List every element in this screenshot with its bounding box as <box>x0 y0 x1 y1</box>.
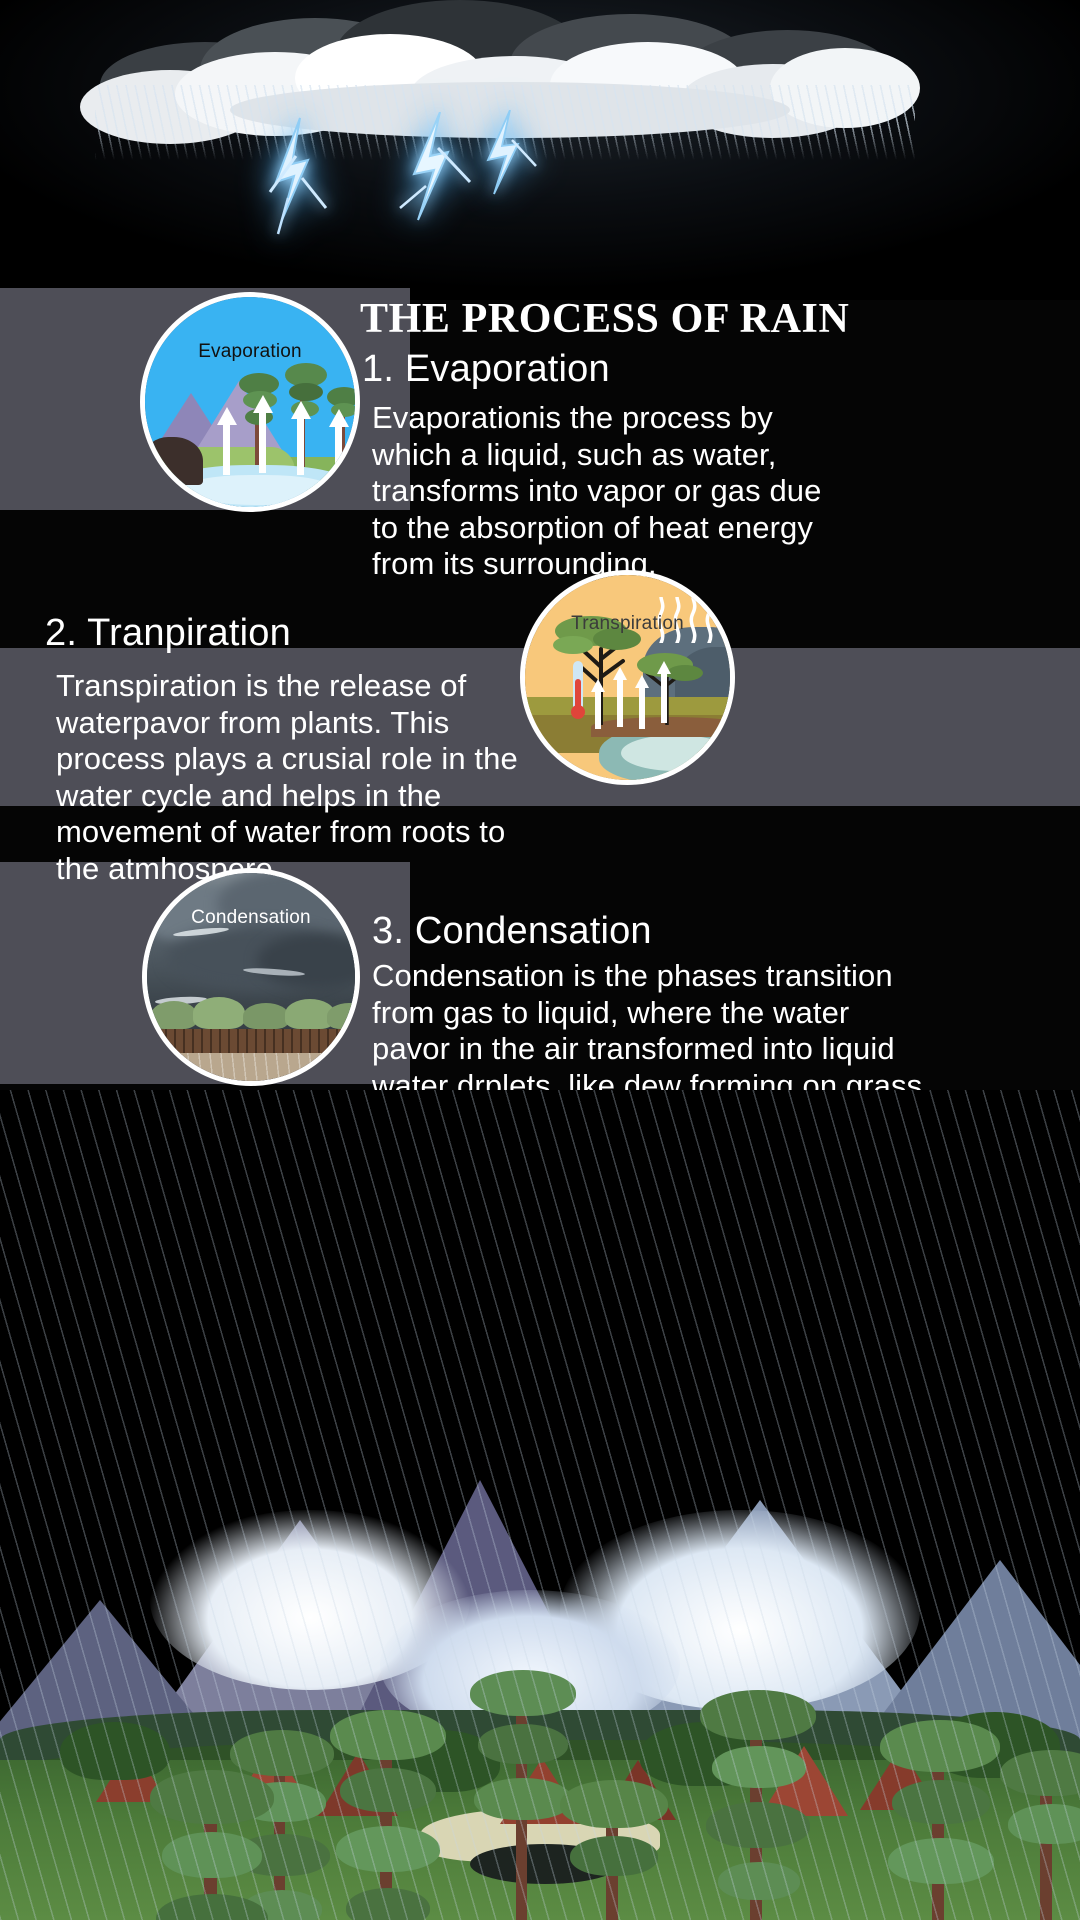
transpiration-circle-label: Transpiration <box>525 613 730 635</box>
page-title: THE PROCESS OF RAIN <box>360 298 1020 340</box>
condensation-circle-label: Condensation <box>147 907 355 929</box>
section-3-heading: 3. Condensation <box>372 910 1012 953</box>
boardwalk-planks <box>147 1029 360 1055</box>
lake-highlight <box>183 475 333 505</box>
pond-highlight <box>621 735 731 771</box>
bush <box>60 1722 170 1780</box>
tree-line <box>147 999 360 1033</box>
storm-clouds-illustration <box>0 0 1080 300</box>
section-2-body: Transpiration is the release of waterpav… <box>56 668 526 887</box>
infographic-poster: THE PROCESS OF RAIN <box>0 0 1080 1920</box>
lightning-bolt-icon <box>466 110 556 210</box>
condensation-illustration: Condensation <box>142 868 360 1086</box>
section-1-body: Evaporationis the process by which a liq… <box>372 400 842 583</box>
lightning-bolt-icon <box>248 116 358 246</box>
evaporation-illustration: Evaporation <box>140 292 360 512</box>
evaporation-circle-label: Evaporation <box>145 341 355 363</box>
forest-rain-illustration <box>0 1090 1080 1920</box>
section-1-heading: 1. Evaporation <box>362 348 1002 391</box>
rock <box>145 437 203 485</box>
transpiration-illustration: Transpiration <box>520 570 735 785</box>
